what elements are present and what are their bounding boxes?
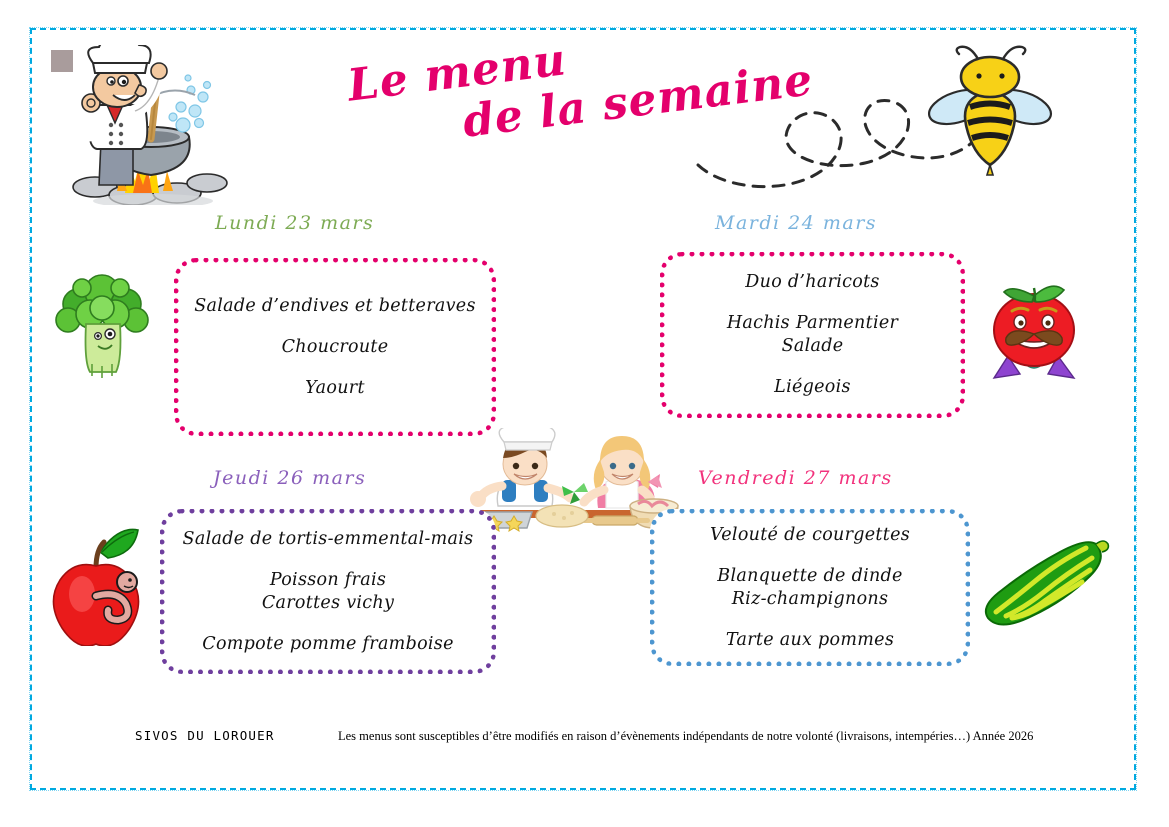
tomato-character-image	[982, 278, 1086, 384]
menu-course-main: Poisson frais Carottes vichy	[179, 569, 477, 615]
day-header-jeudi: Jeudi 26 mars	[213, 467, 366, 489]
menu-item: Liégeois	[679, 376, 946, 399]
menu-item: Duo d’haricots	[679, 271, 946, 294]
menu-course-main: Hachis Parmentier Salade	[679, 312, 946, 358]
menu-course-starter: Velouté de courgettes	[669, 524, 951, 547]
menu-item: Salade d’endives et betteraves	[193, 295, 477, 318]
chef-cooking-cauldron-image	[55, 45, 240, 205]
menu-course-main: Blanquette de dinde Riz-champignons	[669, 565, 951, 611]
footer-disclaimer: Les menus sont susceptibles d’être modif…	[338, 729, 1033, 744]
menu-item: Hachis Parmentier	[679, 312, 946, 335]
menu-box-mardi: Duo d’haricots Hachis Parmentier Salade …	[660, 252, 965, 418]
day-header-mardi: Mardi 24 mars	[715, 212, 877, 234]
zucchini-image	[978, 526, 1110, 638]
menu-item: Poisson frais	[179, 569, 477, 592]
menu-course-dessert: Compote pomme framboise	[179, 633, 477, 656]
menu-course-dessert: Yaourt	[193, 377, 477, 400]
day-header-lundi: Lundi 23 mars	[215, 212, 374, 234]
menu-course-starter: Salade de tortis-emmental-mais	[179, 528, 477, 551]
menu-item: Velouté de courgettes	[669, 524, 951, 547]
menu-item: Carottes vichy	[179, 592, 477, 615]
menu-course-main: Choucroute	[193, 336, 477, 359]
menu-item: Tarte aux pommes	[669, 629, 951, 652]
menu-box-lundi: Salade d’endives et betteraves Choucrout…	[174, 258, 496, 436]
menu-item: Compote pomme framboise	[179, 633, 477, 656]
menu-page: Le menu de la semaine Lundi 23 mars Mard…	[0, 0, 1169, 827]
menu-item: Salade de tortis-emmental-mais	[179, 528, 477, 551]
menu-course-starter: Duo d’haricots	[679, 271, 946, 294]
menu-item: Yaourt	[193, 377, 477, 400]
apple-with-worm-image	[44, 524, 154, 646]
menu-item: Salade	[679, 335, 946, 358]
menu-course-dessert: Liégeois	[679, 376, 946, 399]
menu-box-vendredi: Velouté de courgettes Blanquette de dind…	[650, 509, 970, 666]
footer-organisation: SIVOS DU LOROUER	[135, 728, 275, 743]
footer: SIVOS DU LOROUER Les menus sont suscepti…	[60, 726, 1100, 750]
day-header-vendredi: Vendredi 27 mars	[698, 467, 893, 489]
broccoli-character-image	[52, 268, 154, 378]
menu-course-dessert: Tarte aux pommes	[669, 629, 951, 652]
menu-item: Choucroute	[193, 336, 477, 359]
menu-item: Blanquette de dinde	[669, 565, 951, 588]
menu-box-jeudi: Salade de tortis-emmental-mais Poisson f…	[160, 509, 496, 674]
menu-item: Riz-champignons	[669, 588, 951, 611]
menu-course-starter: Salade d’endives et betteraves	[193, 295, 477, 318]
